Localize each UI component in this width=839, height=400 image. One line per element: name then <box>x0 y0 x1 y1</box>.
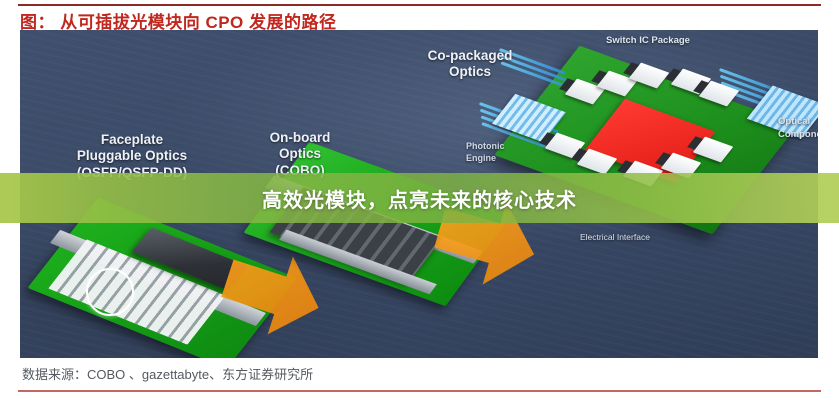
promo-banner-text: 高效光模块，点亮未来的核心技术 <box>262 184 577 213</box>
title-divider-top <box>18 4 821 6</box>
figure-divider-bottom <box>18 390 821 392</box>
promo-banner: 高效光模块，点亮未来的核心技术 <box>0 173 839 223</box>
figure-source: 数据来源：COBO 、gazettabyte、东方证券研究所 <box>22 364 313 383</box>
highlight-circle-icon <box>86 268 134 316</box>
